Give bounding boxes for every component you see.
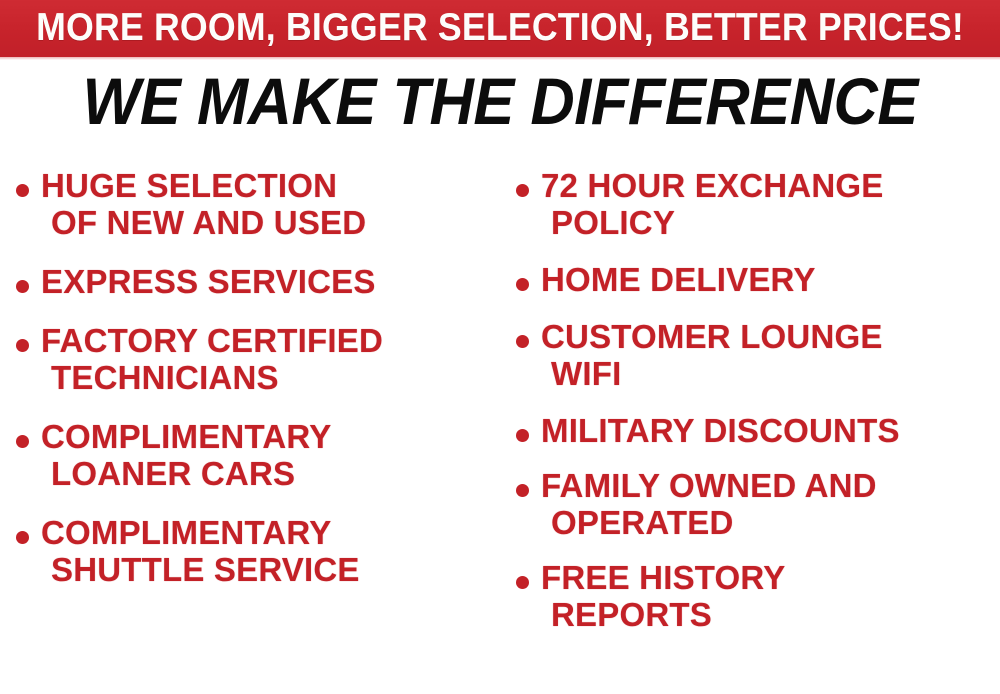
bullet-dot-icon: [516, 576, 529, 589]
list-item: 72 HOUR EXCHANGEPOLICY: [516, 168, 1000, 242]
features-section: HUGE SELECTIONOF NEW AND USED EXPRESS SE…: [0, 160, 1000, 694]
bullet-dot-icon: [516, 484, 529, 497]
list-item-label: FACTORY CERTIFIEDTECHNICIANS: [41, 323, 506, 397]
bullet-dot-icon: [16, 531, 29, 544]
list-item: EXPRESS SERVICES: [16, 264, 506, 301]
bullet-dot-icon: [516, 429, 529, 442]
list-item-label: FREE HISTORYREPORTS: [541, 560, 1000, 634]
features-column-right: 72 HOUR EXCHANGEPOLICY HOME DELIVERY CUS…: [516, 160, 1000, 634]
list-item: COMPLIMENTARYSHUTTLE SERVICE: [16, 515, 506, 589]
list-item: MILITARY DISCOUNTS: [516, 413, 1000, 450]
list-item: HUGE SELECTIONOF NEW AND USED: [16, 168, 506, 242]
list-item-label: HUGE SELECTIONOF NEW AND USED: [41, 168, 506, 242]
bullet-dot-icon: [16, 435, 29, 448]
promo-banner: MORE ROOM, BIGGER SELECTION, BETTER PRIC…: [0, 0, 1000, 57]
bullet-dot-icon: [16, 339, 29, 352]
list-item-label: COMPLIMENTARYSHUTTLE SERVICE: [41, 515, 506, 589]
bullet-dot-icon: [516, 335, 529, 348]
list-item: CUSTOMER LOUNGEWIFI: [516, 319, 1000, 393]
bullet-dot-icon: [16, 184, 29, 197]
banner-underline-divider: [0, 57, 1000, 60]
list-item: HOME DELIVERY: [516, 262, 1000, 299]
list-item-label: MILITARY DISCOUNTS: [541, 413, 1000, 450]
page-title-text: WE MAKE THE DIFFERENCE: [82, 68, 917, 135]
list-item: FAMILY OWNED ANDOPERATED: [516, 468, 1000, 542]
page-title: WE MAKE THE DIFFERENCE: [0, 68, 1000, 135]
list-item-label: EXPRESS SERVICES: [41, 264, 506, 301]
list-item: FREE HISTORYREPORTS: [516, 560, 1000, 634]
list-item-label: 72 HOUR EXCHANGEPOLICY: [541, 168, 1000, 242]
list-item: FACTORY CERTIFIEDTECHNICIANS: [16, 323, 506, 397]
bullet-dot-icon: [16, 280, 29, 293]
list-item-label: COMPLIMENTARYLOANER CARS: [41, 419, 506, 493]
bullet-dot-icon: [516, 278, 529, 291]
list-item: COMPLIMENTARYLOANER CARS: [16, 419, 506, 493]
list-item-label: CUSTOMER LOUNGEWIFI: [541, 319, 1000, 393]
list-item-label: FAMILY OWNED ANDOPERATED: [541, 468, 1000, 542]
bullet-dot-icon: [516, 184, 529, 197]
features-column-left: HUGE SELECTIONOF NEW AND USED EXPRESS SE…: [16, 160, 506, 589]
list-item-label: HOME DELIVERY: [541, 262, 1000, 299]
banner-headline: MORE ROOM, BIGGER SELECTION, BETTER PRIC…: [36, 8, 964, 49]
